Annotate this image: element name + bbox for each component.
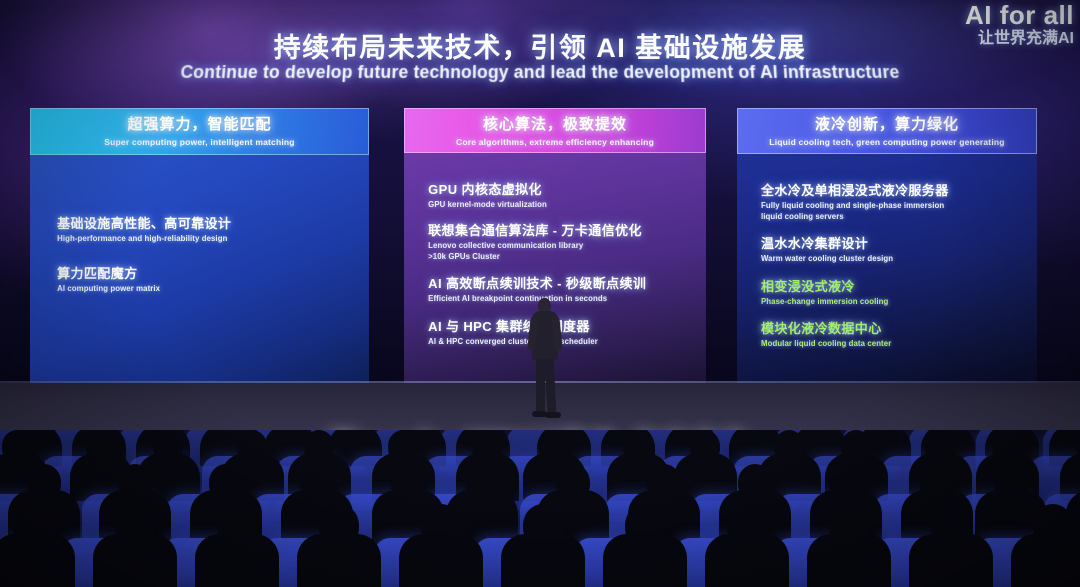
- bullet-cn: AI 高效断点续训技术 - 秒级断点续训: [428, 273, 706, 292]
- bullet-en: Lenovo collective communication library: [428, 241, 706, 250]
- audience-head: [319, 504, 359, 546]
- bullet-cn: 模块化液冷数据中心: [761, 318, 1037, 337]
- list-item: 模块化液冷数据中心 Modular liquid cooling data ce…: [737, 318, 1037, 348]
- bullet-cn: 相变浸没式液冷: [761, 276, 1037, 295]
- bullet-en: AI computing power matrix: [57, 284, 369, 293]
- speaker-silhouette: [528, 298, 562, 420]
- audience-head: [115, 504, 155, 546]
- audience-head: [2, 430, 32, 462]
- panel-body-compute-power: 基础设施高性能、高可靠设计 High-performance and high-…: [30, 155, 369, 383]
- bullet-cn: 联想集合通信算法库 - 万卡通信优化: [428, 220, 706, 239]
- audience-head: [472, 430, 502, 462]
- audience-head: [690, 430, 720, 462]
- panel-title-en: Liquid cooling tech, green computing pow…: [737, 137, 1037, 147]
- audience-head: [774, 430, 804, 462]
- bullet-en: Modular liquid cooling data center: [761, 339, 1037, 348]
- audience-head: [931, 504, 971, 546]
- list-item: GPU 内核态虚拟化 GPU kernel-mode virtualizatio…: [404, 179, 706, 209]
- audience-head: [539, 430, 569, 462]
- panel-header-compute-power: 超强算力，智能匹配 Super computing power, intelli…: [30, 108, 369, 155]
- slide-headline-cn: 持续布局未来技术，引领 AI 基础设施发展: [0, 26, 1080, 65]
- conference-stage-photo: AI for all 让世界充满AI 持续布局未来技术，引领 AI 基础设施发展…: [0, 0, 1080, 587]
- bullet-cn: 全水冷及单相浸没式液冷服务器: [761, 180, 1037, 199]
- audience-head: [27, 464, 61, 500]
- audience-head: [992, 430, 1022, 462]
- audience-head: [727, 504, 767, 546]
- audience-head: [300, 464, 334, 500]
- bullet-cn: 温水水冷集群设计: [761, 233, 1037, 252]
- audience-head: [217, 504, 257, 546]
- audience-head: [829, 504, 869, 546]
- slide-headline-en: Continue to develop future technology an…: [0, 62, 1080, 83]
- brand-main-text: AI for all: [965, 2, 1074, 28]
- audience-head: [994, 464, 1028, 500]
- audience-head: [738, 464, 772, 500]
- panel-header-core-algorithms: 核心算法，极致提效 Core algorithms, extreme effic…: [404, 108, 706, 153]
- panel-title-en: Super computing power, intelligent match…: [30, 137, 369, 147]
- speaker-shoe-right: [545, 412, 561, 418]
- audience-head: [556, 464, 590, 500]
- bullet-en: Warm water cooling cluster design: [761, 254, 1037, 263]
- bullet-en: AI & HPC converged cluster batch schedul…: [428, 337, 706, 346]
- list-item: 温水水冷集群设计 Warm water cooling cluster desi…: [737, 233, 1037, 263]
- panel-body-liquid-cooling: 全水冷及单相浸没式液冷服务器 Fully liquid cooling and …: [737, 154, 1037, 383]
- bullet-en: Efficient AI breakpoint continuation in …: [428, 294, 706, 303]
- audience-head: [388, 430, 418, 462]
- list-item: 全水冷及单相浸没式液冷服务器 Fully liquid cooling and …: [737, 180, 1037, 221]
- panel-title-en: Core algorithms, extreme efficiency enha…: [404, 137, 706, 147]
- audience-head: [421, 504, 461, 546]
- audience-head: [13, 504, 53, 546]
- audience-head: [647, 464, 681, 500]
- audience-head: [118, 464, 152, 500]
- audience-head: [465, 464, 499, 500]
- list-item: 算力匹配魔方 AI computing power matrix: [30, 263, 369, 293]
- list-item: 联想集合通信算法库 - 万卡通信优化 Lenovo collective com…: [404, 220, 706, 261]
- panel-title-cn: 液冷创新，算力绿化: [737, 113, 1037, 134]
- panel-compute-power: 超强算力，智能匹配 Super computing power, intelli…: [30, 108, 369, 383]
- bullet-en: Fully liquid cooling and single-phase im…: [761, 201, 1037, 210]
- audience-head: [86, 430, 116, 462]
- bullet-cn: AI 与 HPC 集群统一调度器: [428, 316, 706, 335]
- audience-head: [523, 504, 563, 546]
- bullet-en: High-performance and high-reliability de…: [57, 234, 369, 243]
- audience-head: [625, 504, 665, 546]
- audience-head: [925, 430, 955, 462]
- audience-area: [0, 430, 1080, 587]
- bullet-cn: 基础设施高性能、高可靠设计: [57, 213, 369, 232]
- audience-head: [841, 430, 871, 462]
- bullet-en: GPU kernel-mode virtualization: [428, 200, 706, 209]
- audience-head: [920, 464, 954, 500]
- bullet-cn: 算力匹配魔方: [57, 263, 369, 282]
- speaker-leg-right: [545, 358, 557, 413]
- audience-head: [237, 430, 267, 462]
- audience-head: [153, 430, 183, 462]
- audience-head: [1033, 504, 1073, 546]
- list-item: 相变浸没式液冷 Phase-change immersion cooling: [737, 276, 1037, 306]
- panel-title-cn: 超强算力，智能匹配: [30, 113, 369, 134]
- list-item: 基础设施高性能、高可靠设计 High-performance and high-…: [30, 213, 369, 243]
- bullet-cn: GPU 内核态虚拟化: [428, 179, 706, 198]
- audience-head: [304, 430, 334, 462]
- bullet-en-2: >10k GPUs Cluster: [428, 252, 706, 261]
- audience-head: [209, 464, 243, 500]
- audience-head: [829, 464, 863, 500]
- panel-title-cn: 核心算法，极致提效: [404, 113, 706, 134]
- audience-head: [623, 430, 653, 462]
- panel-liquid-cooling: 液冷创新，算力绿化 Liquid cooling tech, green com…: [737, 108, 1037, 383]
- bullet-en: Phase-change immersion cooling: [761, 297, 1037, 306]
- speaker-leg-left: [536, 358, 545, 413]
- audience-head: [391, 464, 425, 500]
- bullet-en-2: liquid cooling servers: [761, 212, 1037, 221]
- panel-header-liquid-cooling: 液冷创新，算力绿化 Liquid cooling tech, green com…: [737, 108, 1037, 154]
